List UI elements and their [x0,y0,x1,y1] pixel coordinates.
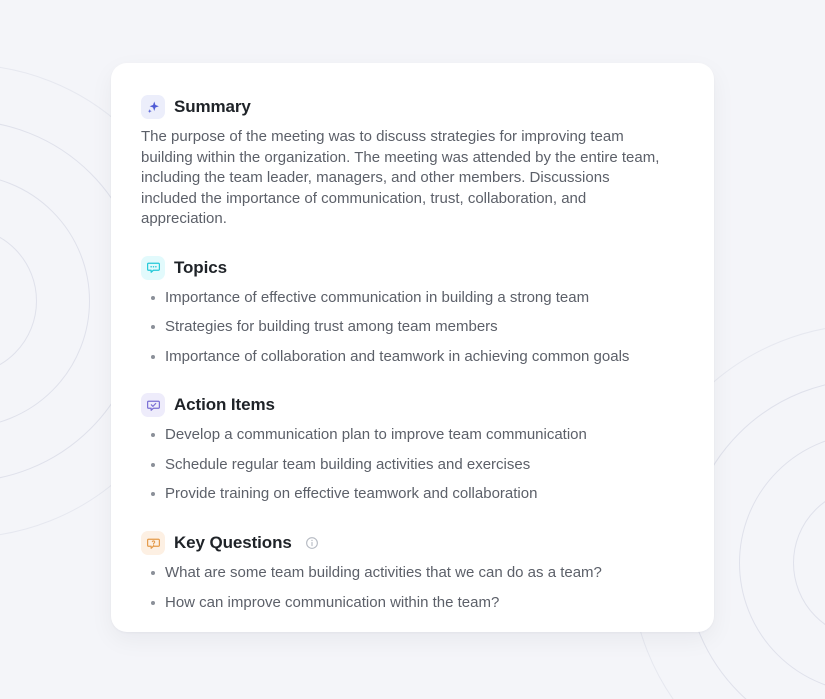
list-item: Importance of effective communication in… [141,288,684,309]
topics-list: Importance of effective communication in… [141,288,684,368]
section-action-items-header: Action Items [141,393,684,417]
section-summary-header: Summary [141,95,684,119]
meeting-notes-card: Summary The purpose of the meeting was t… [111,63,714,632]
section-key-questions: Key Questions What are some team buildin… [141,531,684,613]
list-item: Strategies for building trust among team… [141,317,684,338]
sparkle-icon [141,95,165,119]
list-item: Develop a communication plan to improve … [141,425,684,446]
action-items-list: Develop a communication plan to improve … [141,425,684,505]
key-questions-list: What are some team building activities t… [141,563,684,613]
section-title: Topics [174,258,227,278]
list-item: Importance of collaboration and teamwork… [141,347,684,368]
decorative-ring [793,487,825,639]
decorative-ring [739,433,825,693]
info-circle-icon[interactable] [305,536,319,550]
summary-paragraph: The purpose of the meeting was to discus… [141,127,666,230]
decorative-ring [0,227,37,375]
chat-bubble-question-icon [141,531,165,555]
section-title: Key Questions [174,533,292,553]
chat-bubble-check-icon [141,393,165,417]
section-topics-header: Topics [141,256,684,280]
chat-bubble-dots-icon [141,256,165,280]
list-item: What are some team building activities t… [141,563,684,584]
section-title: Action Items [174,395,275,415]
list-item: How can improve communication within the… [141,593,684,614]
list-item: Provide training on effective teamwork a… [141,484,684,505]
list-item: Schedule regular team building activitie… [141,455,684,476]
decorative-ring [0,174,90,428]
section-summary: Summary The purpose of the meeting was t… [141,95,684,230]
section-action-items: Action Items Develop a communication pla… [141,393,684,505]
section-key-questions-header: Key Questions [141,531,684,555]
section-title: Summary [174,97,251,117]
section-topics: Topics Importance of effective communica… [141,256,684,368]
